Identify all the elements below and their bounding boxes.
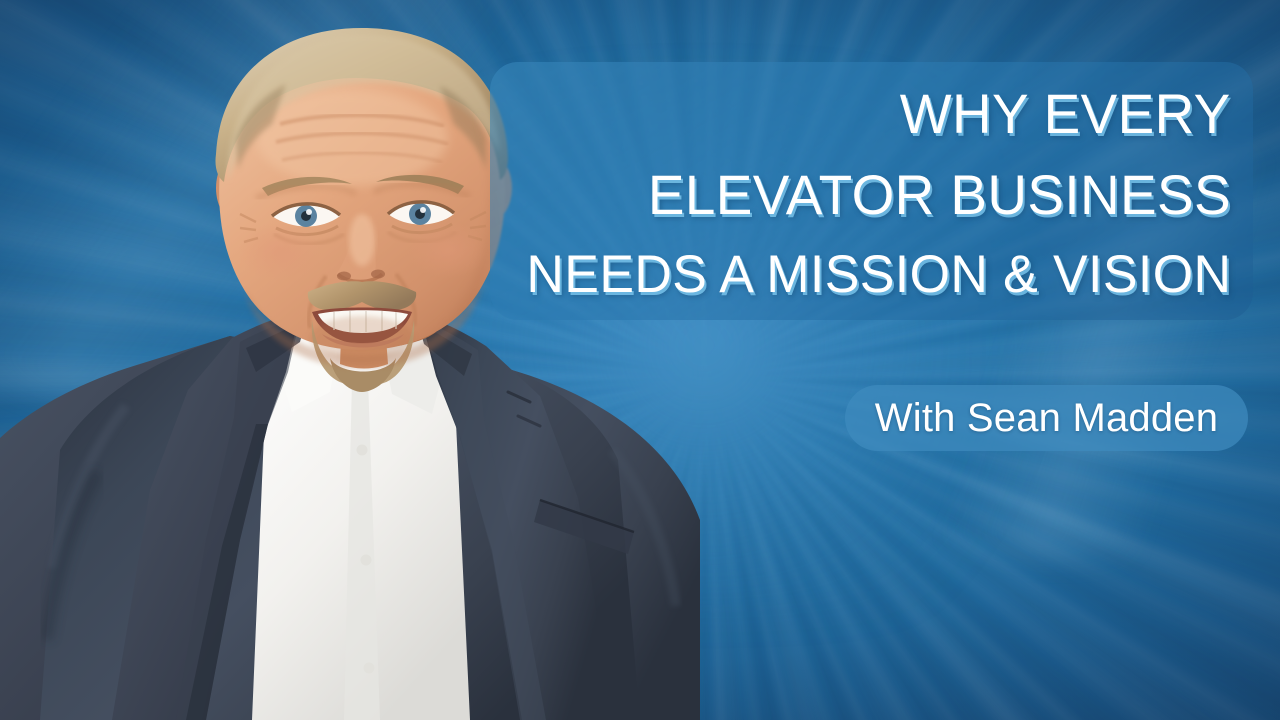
presenter-name-pill: With Sean Madden xyxy=(845,385,1248,451)
title-line-3: NEEDS A MISSION & VISION xyxy=(526,237,1231,312)
presenter-name-label: With Sean Madden xyxy=(875,396,1218,441)
title-card: WHY EVERY ELEVATOR BUSINESS NEEDS A MISS… xyxy=(490,62,1253,320)
title-line-2: ELEVATOR BUSINESS xyxy=(648,155,1231,235)
video-thumbnail: WHY EVERY ELEVATOR BUSINESS NEEDS A MISS… xyxy=(0,0,1280,720)
title-text-block: WHY EVERY ELEVATOR BUSINESS NEEDS A MISS… xyxy=(490,62,1253,320)
title-line-1: WHY EVERY xyxy=(900,74,1231,154)
